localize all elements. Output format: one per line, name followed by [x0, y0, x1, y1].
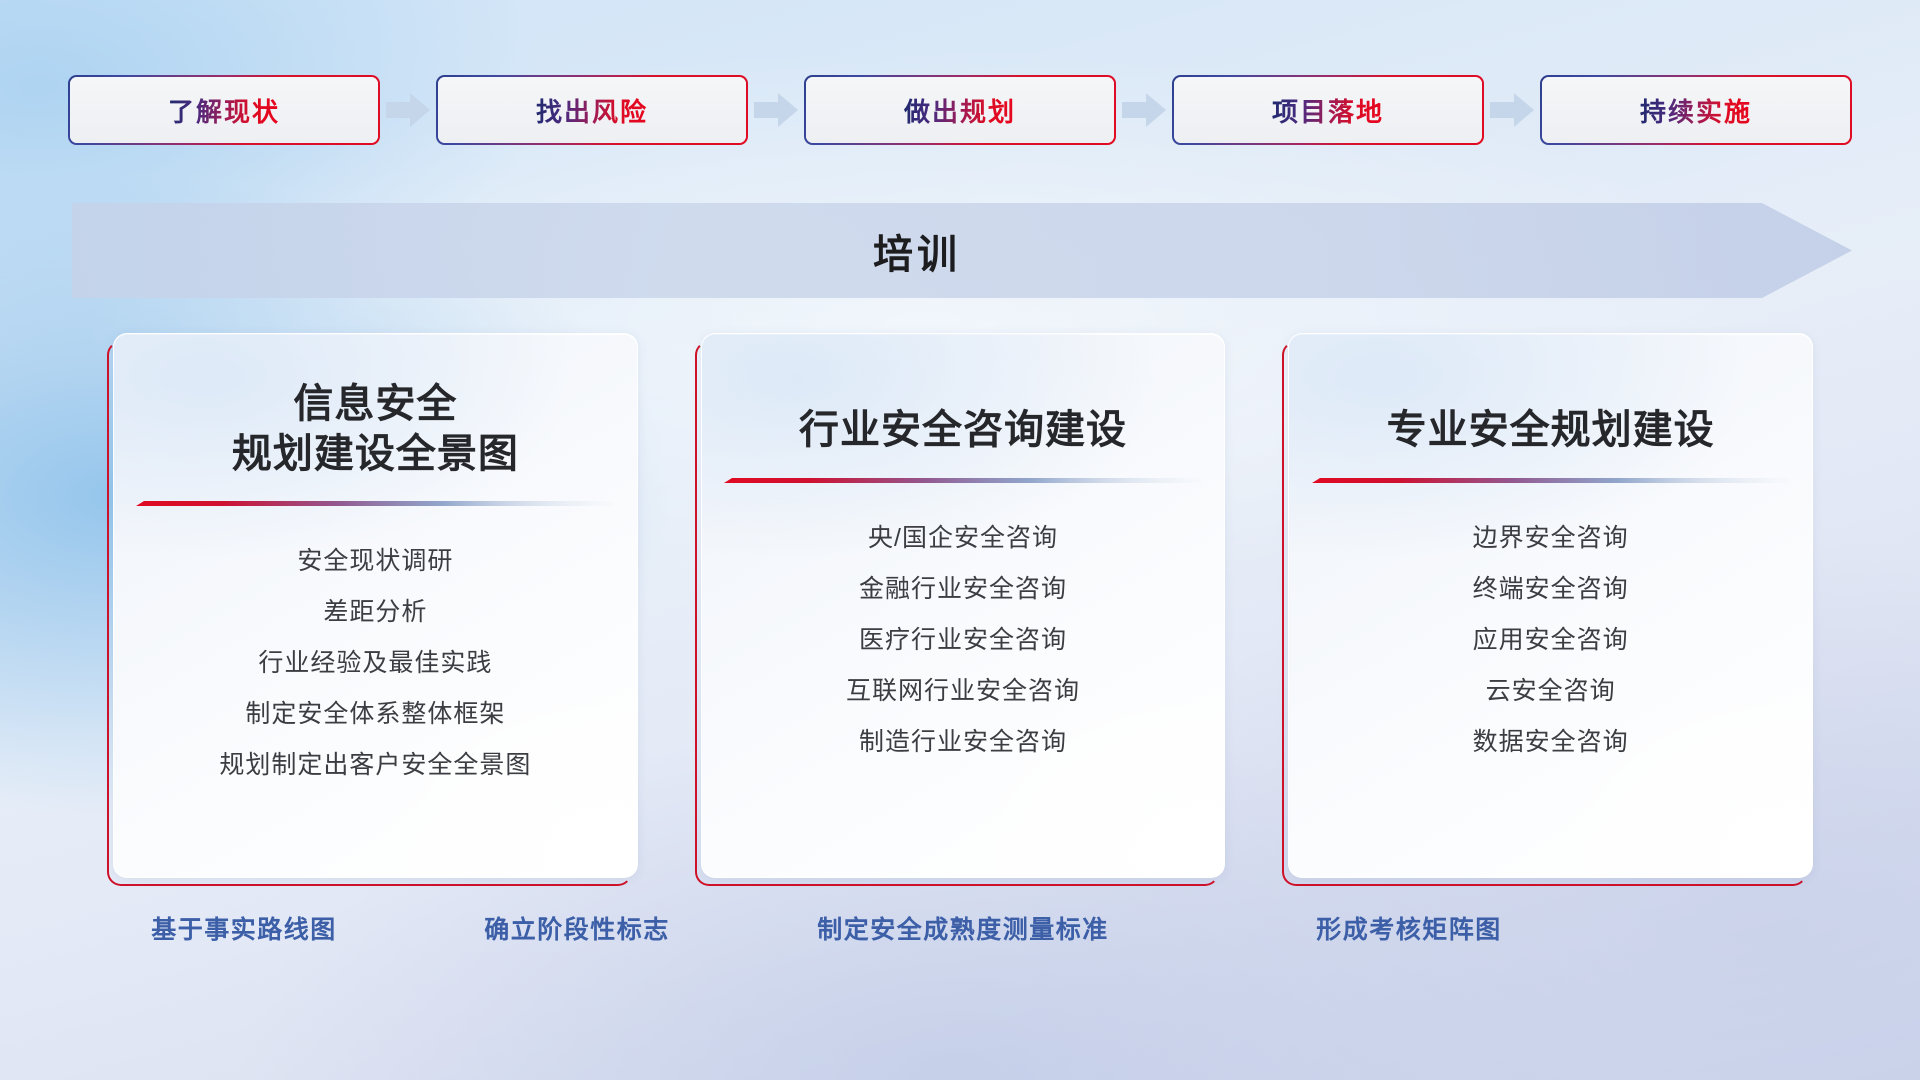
process-step-1[interactable]: 了解现状 [70, 77, 378, 143]
process-step-label: 找出风险 [536, 92, 648, 129]
arrow-right-icon [1482, 88, 1542, 132]
process-step-label: 项目落地 [1272, 92, 1384, 129]
process-step-5[interactable]: 持续实施 [1542, 77, 1850, 143]
process-step-row: 了解现状找出风险做出规划项目落地持续实施 [70, 77, 1850, 143]
list-item: 行业经验及最佳实践 [114, 638, 637, 689]
footer-label-4: 形成考核矩阵图 [1316, 910, 1502, 946]
process-step-label: 持续实施 [1640, 92, 1752, 129]
list-item: 数据安全咨询 [1289, 717, 1812, 768]
arrow-right-icon [1114, 88, 1174, 132]
card-1: 信息安全 规划建设全景图安全现状调研差距分析行业经验及最佳实践制定安全体系整体框… [113, 333, 638, 878]
gradient-rule-icon [724, 478, 1202, 487]
slide-stage: 了解现状找出风险做出规划项目落地持续实施 培训 信息安全 规划建设全景图安全现状… [0, 0, 1920, 1080]
footer-label-2: 确立阶段性标志 [484, 910, 670, 946]
card-title: 专业安全规划建设 [1387, 406, 1715, 456]
card-2: 行业安全咨询建设央/国企安全咨询金融行业安全咨询医疗行业安全咨询互联网行业安全咨… [701, 333, 1226, 878]
card-title: 行业安全咨询建设 [799, 406, 1127, 456]
footer-label-1: 基于事实路线图 [151, 910, 337, 946]
process-step-3[interactable]: 做出规划 [806, 77, 1114, 143]
list-item: 金融行业安全咨询 [702, 564, 1225, 615]
process-step-surface: 项目落地 [1174, 77, 1482, 143]
arrow-right-icon [378, 88, 438, 132]
gradient-rule-icon [1312, 478, 1790, 487]
process-step-surface: 了解现状 [70, 77, 378, 143]
process-step-2[interactable]: 找出风险 [438, 77, 746, 143]
process-step-surface: 做出规划 [806, 77, 1114, 143]
card-surface[interactable]: 信息安全 规划建设全景图安全现状调研差距分析行业经验及最佳实践制定安全体系整体框… [113, 333, 638, 878]
footer-label-row: 基于事实路线图确立阶段性标志制定安全成熟度测量标准形成考核矩阵图 [0, 910, 1920, 958]
list-item: 制造行业安全咨询 [702, 717, 1225, 768]
card-3: 专业安全规划建设边界安全咨询终端安全咨询应用安全咨询云安全咨询数据安全咨询 [1288, 333, 1813, 878]
gradient-rule-icon [136, 501, 614, 510]
process-step-surface: 找出风险 [438, 77, 746, 143]
arrow-right-icon [746, 88, 806, 132]
list-item: 差距分析 [114, 587, 637, 638]
footer-label-3: 制定安全成熟度测量标准 [817, 910, 1109, 946]
card-item-list: 边界安全咨询终端安全咨询应用安全咨询云安全咨询数据安全咨询 [1289, 513, 1812, 768]
card-surface[interactable]: 行业安全咨询建设央/国企安全咨询金融行业安全咨询医疗行业安全咨询互联网行业安全咨… [701, 333, 1226, 878]
card-item-list: 安全现状调研差距分析行业经验及最佳实践制定安全体系整体框架规划制定出客户安全全景… [114, 536, 637, 791]
list-item: 制定安全体系整体框架 [114, 689, 637, 740]
list-item: 云安全咨询 [1289, 666, 1812, 717]
list-item: 应用安全咨询 [1289, 615, 1812, 666]
card-surface[interactable]: 专业安全规划建设边界安全咨询终端安全咨询应用安全咨询云安全咨询数据安全咨询 [1288, 333, 1813, 878]
process-step-label: 做出规划 [904, 92, 1016, 129]
list-item: 医疗行业安全咨询 [702, 615, 1225, 666]
training-banner: 培训 [72, 203, 1852, 298]
list-item: 安全现状调研 [114, 536, 637, 587]
list-item: 央/国企安全咨询 [702, 513, 1225, 564]
card-item-list: 央/国企安全咨询金融行业安全咨询医疗行业安全咨询互联网行业安全咨询制造行业安全咨… [702, 513, 1225, 768]
list-item: 规划制定出客户安全全景图 [114, 740, 637, 791]
card-title: 信息安全 规划建设全景图 [232, 380, 519, 479]
list-item: 终端安全咨询 [1289, 564, 1812, 615]
card-row: 信息安全 规划建设全景图安全现状调研差距分析行业经验及最佳实践制定安全体系整体框… [113, 333, 1813, 878]
list-item: 边界安全咨询 [1289, 513, 1812, 564]
process-step-surface: 持续实施 [1542, 77, 1850, 143]
process-step-label: 了解现状 [168, 92, 280, 129]
process-step-4[interactable]: 项目落地 [1174, 77, 1482, 143]
training-banner-label: 培训 [72, 203, 1852, 298]
list-item: 互联网行业安全咨询 [702, 666, 1225, 717]
